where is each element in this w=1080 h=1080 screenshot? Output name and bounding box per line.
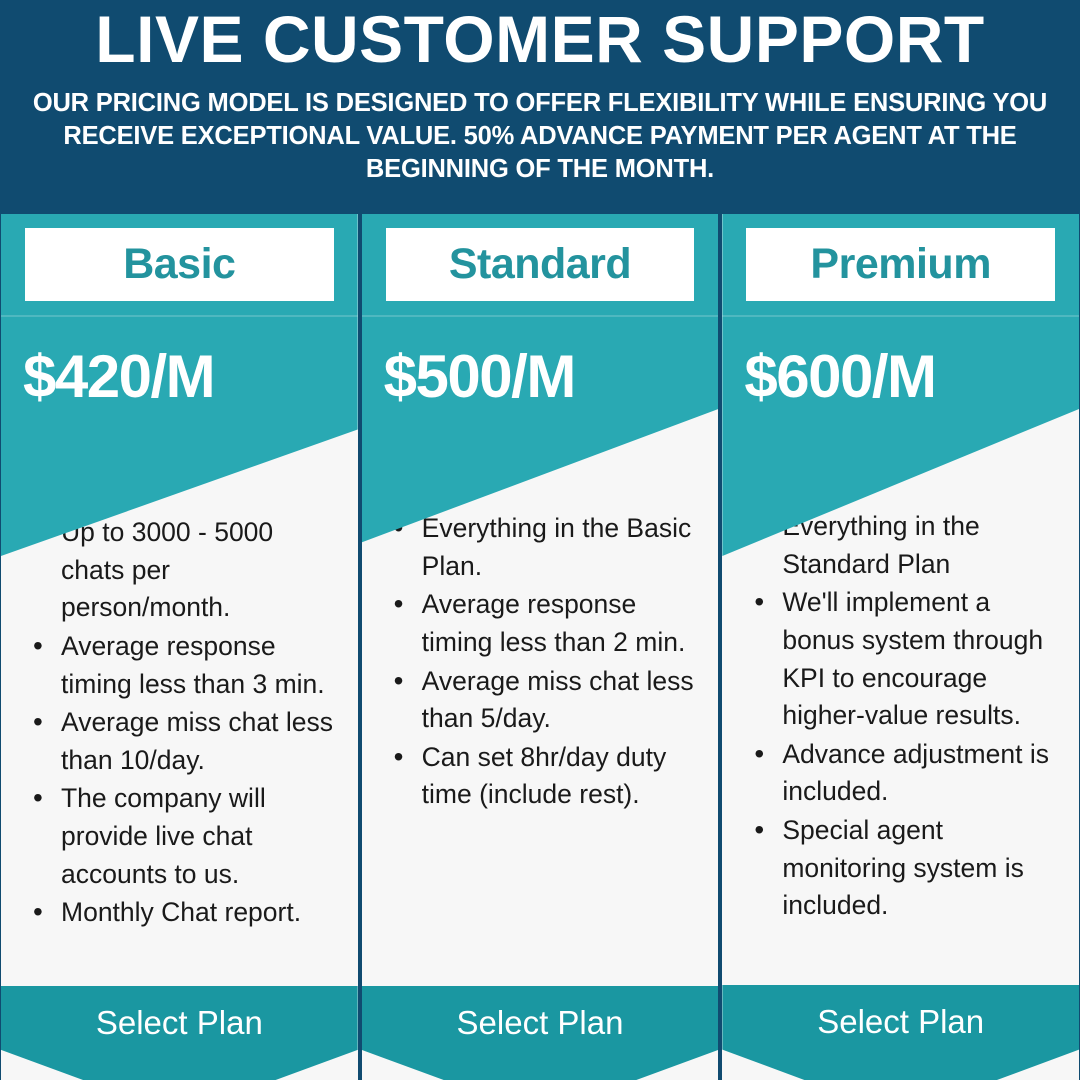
card-header-premium: Premium $600/M bbox=[722, 214, 1079, 556]
list-item: Special agent monitoring system is inclu… bbox=[752, 812, 1069, 925]
page-title: LIVE CUSTOMER SUPPORT bbox=[22, 6, 1058, 73]
feature-list: Everything in the Basic Plan. Average re… bbox=[370, 510, 705, 814]
page-header: LIVE CUSTOMER SUPPORT OUR PRICING MODEL … bbox=[0, 0, 1080, 195]
pricing-card-basic[interactable]: Basic $420/M Up to 3000 - 5000 chats per… bbox=[1, 214, 358, 1080]
list-item: Up to 3000 - 5000 chats per person/month… bbox=[31, 514, 344, 627]
card-header-standard: Standard $500/M bbox=[362, 214, 719, 556]
page-subtitle: OUR PRICING MODEL IS DESIGNED TO OFFER F… bbox=[22, 87, 1058, 185]
plan-name: Basic bbox=[123, 240, 235, 289]
list-item: Monthly Chat report. bbox=[31, 894, 344, 932]
select-plan-button-standard[interactable]: Select Plan bbox=[362, 986, 719, 1080]
plan-name-plate: Premium bbox=[746, 228, 1055, 301]
list-item: We'll implement a bonus system through K… bbox=[752, 584, 1069, 735]
pricing-card-standard[interactable]: Standard $500/M Everything in the Basic … bbox=[362, 214, 719, 1080]
list-item: Average miss chat less than 10/day. bbox=[31, 704, 344, 779]
card-header-basic: Basic $420/M bbox=[1, 214, 358, 556]
select-plan-button-basic[interactable]: Select Plan bbox=[1, 986, 358, 1080]
plan-name: Standard bbox=[449, 240, 631, 289]
list-item: The company will provide live chat accou… bbox=[31, 780, 344, 893]
plan-name-plate: Basic bbox=[25, 228, 334, 301]
feature-section-basic: Up to 3000 - 5000 chats per person/month… bbox=[1, 556, 358, 986]
pricing-card-premium[interactable]: Premium $600/M Everything in the Standar… bbox=[722, 214, 1079, 1080]
list-item: Can set 8hr/day duty time (include rest)… bbox=[392, 739, 705, 814]
list-item: Everything in the Basic Plan. bbox=[392, 510, 705, 585]
list-item: Average response timing less than 2 min. bbox=[392, 586, 705, 661]
plan-price: $600/M bbox=[722, 317, 1079, 407]
list-item: Average response timing less than 3 min. bbox=[31, 628, 344, 703]
feature-section-premium: Everything in the Standard Plan We'll im… bbox=[722, 556, 1079, 985]
feature-list: Everything in the Standard Plan We'll im… bbox=[730, 508, 1069, 925]
plan-name-plate: Standard bbox=[386, 228, 695, 301]
select-plan-button-premium[interactable]: Select Plan bbox=[722, 985, 1079, 1080]
feature-section-standard: Everything in the Basic Plan. Average re… bbox=[362, 556, 719, 986]
list-item: Advance adjustment is included. bbox=[752, 736, 1069, 811]
pricing-cards-row: Basic $420/M Up to 3000 - 5000 chats per… bbox=[0, 214, 1080, 1080]
feature-list: Up to 3000 - 5000 chats per person/month… bbox=[9, 514, 344, 932]
list-item: Average miss chat less than 5/day. bbox=[392, 663, 705, 738]
plan-price: $500/M bbox=[362, 317, 719, 407]
plan-name: Premium bbox=[810, 240, 991, 289]
plan-price: $420/M bbox=[1, 317, 358, 407]
